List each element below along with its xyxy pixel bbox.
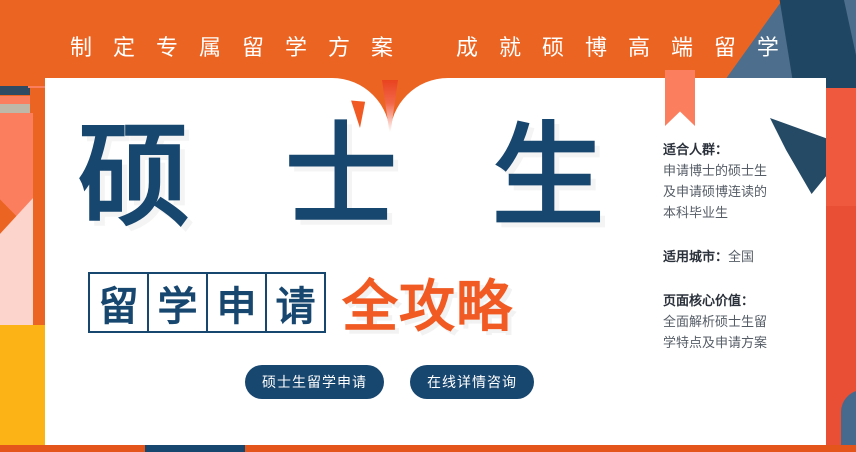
promo-banner: 制 定 专 属 留 学 方 案 成 就 硕 博 高 端 留 学 硕 士 生 留 … — [0, 0, 856, 452]
subtitle-cell: 学 — [147, 272, 208, 333]
info-line: 全面解析硕士生留 — [663, 312, 813, 333]
info-line: 申请博士的硕士生 — [663, 161, 813, 182]
apply-button[interactable]: 硕士生留学申请 — [245, 365, 384, 399]
subtitle-highlight: 全攻略 — [342, 262, 513, 343]
decor-left-yellow-block — [0, 325, 45, 445]
decor-left-pink-shape — [0, 198, 33, 326]
decor-left-tan-strip — [0, 104, 30, 113]
info-title-text: 适用城市： — [663, 250, 728, 265]
info-block-title: 适用城市：全国 — [663, 247, 813, 268]
info-title-text: 适合人群： — [663, 143, 728, 158]
info-line: 及申请硕博连读的 — [663, 182, 813, 203]
info-title-text: 页面核心价值： — [663, 294, 754, 309]
consult-button[interactable]: 在线详情咨询 — [410, 365, 534, 399]
subtitle-cell: 留 — [88, 272, 149, 333]
hero-headline: 硕 士 生 — [78, 105, 618, 250]
info-panel: 适合人群： 申请博士的硕士生 及申请硕博连读的 本科毕业生 适用城市：全国 页面… — [663, 140, 813, 377]
decor-right-salmon-block — [826, 88, 856, 206]
info-block-core-value: 页面核心价值： 全面解析硕士生留 学特点及申请方案 — [663, 291, 813, 354]
info-title-value: 全国 — [728, 250, 754, 265]
info-block-city: 适用城市：全国 — [663, 247, 813, 268]
footer-strip-accent — [145, 445, 245, 452]
decor-left-salmon-strip — [0, 96, 30, 104]
info-block-audience: 适合人群： 申请博士的硕士生 及申请硕博连读的 本科毕业生 — [663, 140, 813, 224]
header-tagline: 制 定 专 属 留 学 方 案 成 就 硕 博 高 端 留 学 — [0, 30, 856, 62]
subtitle-cell: 申 — [206, 272, 267, 333]
footer-strip — [0, 445, 856, 452]
hero-subtitle: 留 学 申 请 全攻略 — [88, 262, 513, 343]
info-line: 学特点及申请方案 — [663, 333, 813, 354]
info-block-title: 页面核心价值： — [663, 291, 813, 312]
subtitle-cell: 请 — [265, 272, 326, 333]
cta-button-row: 硕士生留学申请 在线详情咨询 — [245, 365, 534, 399]
info-block-title: 适合人群： — [663, 140, 813, 161]
info-line: 本科毕业生 — [663, 203, 813, 224]
